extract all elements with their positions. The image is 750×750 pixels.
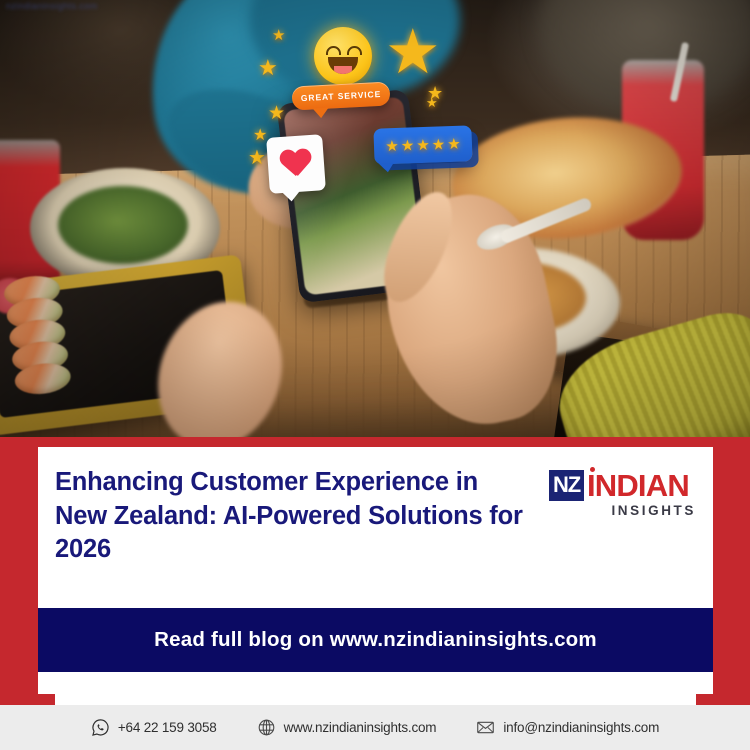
great-service-label: GREAT SERVICE [301, 89, 382, 103]
phone-number: +64 22 159 3058 [118, 720, 217, 735]
contact-phone[interactable]: +64 22 159 3058 [91, 718, 217, 737]
star-icon: ★ [447, 136, 461, 151]
star-icon: ★ [426, 96, 438, 109]
globe-icon [257, 718, 276, 737]
contact-email[interactable]: info@nzindianinsights.com [476, 718, 659, 737]
star-icon: ★ [431, 137, 445, 152]
five-star-rating-bubble: ★ ★ ★ ★ ★ [373, 125, 472, 164]
star-icon: ★ [268, 104, 285, 123]
star-icon: ★ [253, 128, 267, 144]
heart-reaction-sticker [266, 134, 326, 194]
smiling-face-emoji [314, 27, 372, 85]
star-icon: ★ [272, 28, 285, 43]
heart-icon [279, 149, 313, 180]
email-address: info@nzindianinsights.com [503, 720, 659, 735]
logo-nz-badge: NZ [549, 470, 584, 501]
brand-logo: NZ INDIAN INSIGHTS [549, 470, 699, 518]
cta-text: Read full blog on www.nzindianinsights.c… [154, 628, 597, 652]
great-service-bubble: GREAT SERVICE [291, 81, 390, 110]
star-icon: ★ [258, 57, 278, 79]
logo-indian-label: INDIAN [587, 468, 689, 503]
salad-greens [58, 186, 188, 264]
website-url: www.nzindianinsights.com [284, 720, 437, 735]
envelope-icon [476, 718, 495, 737]
page-title: Enhancing Customer Experience in New Zea… [55, 466, 525, 567]
cta-banner[interactable]: Read full blog on www.nzindianinsights.c… [38, 608, 713, 672]
social-media-poster: ★ ★ ★ ★ ★ ★ ★ ★ GREAT SERVICE ★ ★ ★ ★ ★ … [0, 0, 750, 750]
logo-insights-label: INSIGHTS [549, 503, 699, 518]
hero-photo: ★ ★ ★ ★ ★ ★ ★ ★ GREAT SERVICE ★ ★ ★ ★ ★ … [0, 0, 750, 440]
star-icon: ★ [248, 148, 266, 168]
star-icon: ★ [416, 137, 430, 152]
whatsapp-icon [91, 718, 110, 737]
contact-website[interactable]: www.nzindianinsights.com [257, 718, 437, 737]
logo-dot-icon [590, 467, 595, 472]
star-icon: ★ [385, 138, 399, 153]
contact-footer: +64 22 159 3058 www.nzindianinsights.com… [0, 705, 750, 750]
star-icon: ★ [401, 138, 415, 153]
large-star-icon: ★ [385, 22, 451, 88]
logo-indian-text: INDIAN [587, 470, 689, 501]
watermark-text: nzindianinsights.com [6, 1, 98, 11]
